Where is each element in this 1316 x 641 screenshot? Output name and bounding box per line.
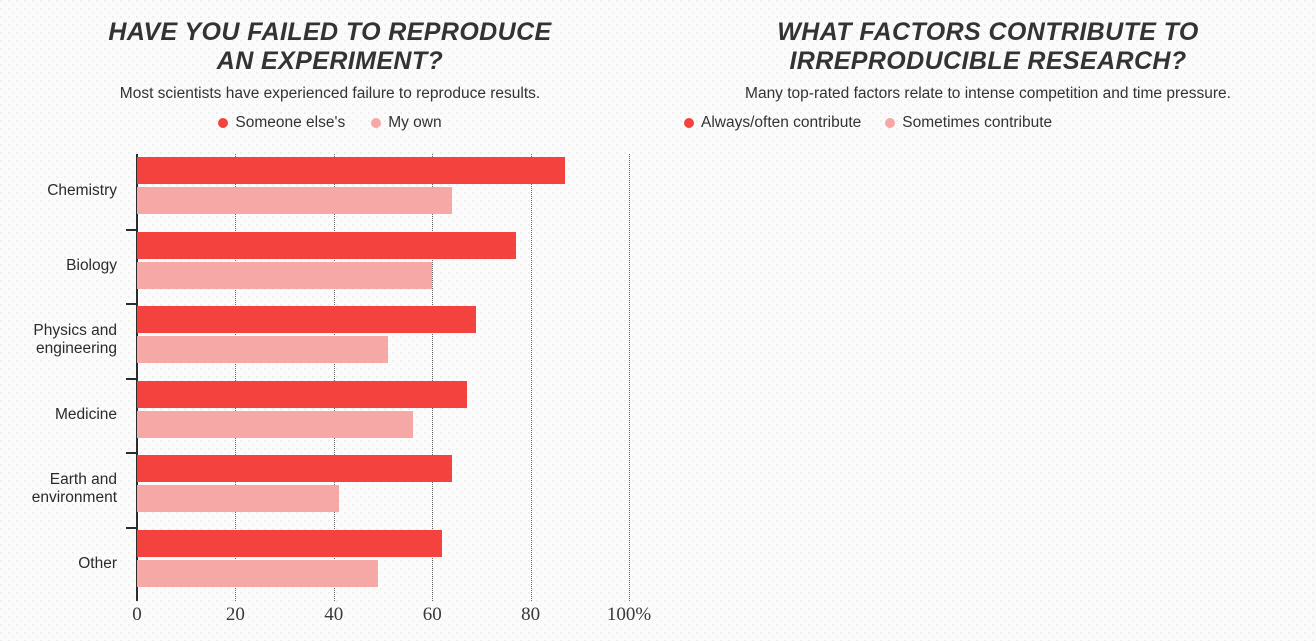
category-label: Poor experimental design — [1307, 432, 1316, 450]
category-label: Other — [0, 555, 127, 573]
bar-row — [137, 560, 629, 587]
bar-row — [137, 530, 629, 557]
chart-title-left-line1: HAVE YOU FAILED TO REPRODUCE — [0, 18, 660, 47]
category-labels-left: ChemistryBiologyPhysics and engineeringM… — [0, 154, 127, 601]
bar[interactable] — [137, 187, 452, 214]
bar[interactable] — [137, 560, 378, 587]
legend-right: Always/often contribute Sometimes contri… — [660, 103, 1316, 132]
category-label: Insufficient peer review — [1307, 567, 1316, 585]
legend-dot-icon — [371, 118, 381, 128]
bar[interactable] — [137, 232, 516, 259]
legend-label: Sometimes contribute — [902, 114, 1052, 132]
bar-row — [137, 381, 629, 408]
category-label: Chemistry — [0, 182, 127, 200]
bar-row — [137, 455, 629, 482]
bar-row — [137, 336, 629, 363]
bar[interactable] — [137, 530, 442, 557]
category-label: Earth and environment — [0, 471, 127, 507]
y-axis-tick — [126, 378, 137, 380]
bar[interactable] — [137, 306, 476, 333]
legend-item-sometimes[interactable]: Sometimes contribute — [885, 114, 1052, 132]
legend-dot-icon — [885, 118, 895, 128]
y-axis-tick — [126, 229, 137, 231]
bar-row — [137, 485, 629, 512]
chart-title-right-line1: WHAT FACTORS CONTRIBUTE TO — [660, 18, 1316, 47]
category-label: Biology — [0, 257, 127, 275]
category-label: Medicine — [0, 406, 127, 424]
chart-panel-factors-irreproducible: WHAT FACTORS CONTRIBUTE TO IRREPRODUCIBL… — [660, 0, 1316, 641]
bar[interactable] — [137, 381, 467, 408]
bar-row — [137, 411, 629, 438]
bar-row — [137, 232, 629, 259]
x-axis-tick-label: 60 — [423, 604, 442, 626]
bar[interactable] — [137, 157, 565, 184]
bar[interactable] — [137, 336, 388, 363]
x-axis-tick-label: 40 — [324, 604, 343, 626]
bar-row — [137, 187, 629, 214]
category-label: Methods, code unavailable — [1307, 387, 1316, 405]
chart-title-right: WHAT FACTORS CONTRIBUTE TO IRREPRODUCIBL… — [660, 0, 1316, 76]
legend-dot-icon — [218, 118, 228, 128]
x-axis-tick-label: 0 — [132, 604, 142, 626]
category-label: Raw data not available from original lab — [1307, 477, 1316, 495]
legend-label: Always/often contribute — [701, 114, 861, 132]
bar-row — [137, 262, 629, 289]
chart-title-left-line2: AN EXPERIMENT? — [0, 47, 660, 76]
legend-dot-icon — [684, 118, 694, 128]
x-axis-tick-label: 80 — [521, 604, 540, 626]
category-label: Physics and engineering — [0, 322, 127, 358]
y-axis-tick — [126, 452, 137, 454]
chart-panel-failed-to-reproduce: HAVE YOU FAILED TO REPRODUCE AN EXPERIME… — [0, 0, 660, 641]
legend-item-always-often[interactable]: Always/often contribute — [684, 114, 861, 132]
bar[interactable] — [137, 485, 339, 512]
category-label: Insufficient oversight/mentoring — [1307, 342, 1316, 360]
chart-subtitle-right: Many top-rated factors relate to intense… — [660, 76, 1316, 103]
category-label: Not replicated enough in original lab — [1307, 297, 1316, 315]
chart-subtitle-left: Most scientists have experienced failure… — [0, 76, 660, 103]
x-axis-left: 020406080100% — [137, 604, 629, 626]
legend-item-my-own[interactable]: My own — [371, 114, 441, 132]
bar-row — [137, 157, 629, 184]
bar-row — [137, 306, 629, 333]
legend-label: My own — [388, 114, 441, 132]
legend-label: Someone else's — [235, 114, 345, 132]
category-label: Low statistical power or poor analysis — [1307, 252, 1316, 270]
category-label: Fraud — [1307, 522, 1316, 540]
x-axis-tick-label: 20 — [226, 604, 245, 626]
category-label: Selective reporting — [1307, 162, 1316, 180]
gridline — [629, 154, 630, 601]
legend-left: Someone else's My own — [0, 103, 660, 132]
charts-container: HAVE YOU FAILED TO REPRODUCE AN EXPERIME… — [0, 0, 1316, 641]
bar[interactable] — [137, 262, 432, 289]
chart-title-right-line2: IRREPRODUCIBLE RESEARCH? — [660, 47, 1316, 76]
y-axis-tick — [126, 527, 137, 529]
chart-title-left: HAVE YOU FAILED TO REPRODUCE AN EXPERIME… — [0, 0, 660, 76]
bar[interactable] — [137, 455, 452, 482]
y-axis-tick — [126, 303, 137, 305]
x-axis-tick-label: 100% — [607, 604, 651, 626]
plot-area-left — [137, 154, 629, 601]
legend-item-someone-elses[interactable]: Someone else's — [218, 114, 345, 132]
bar[interactable] — [137, 411, 413, 438]
category-label: Pressure to publish — [1307, 207, 1316, 225]
